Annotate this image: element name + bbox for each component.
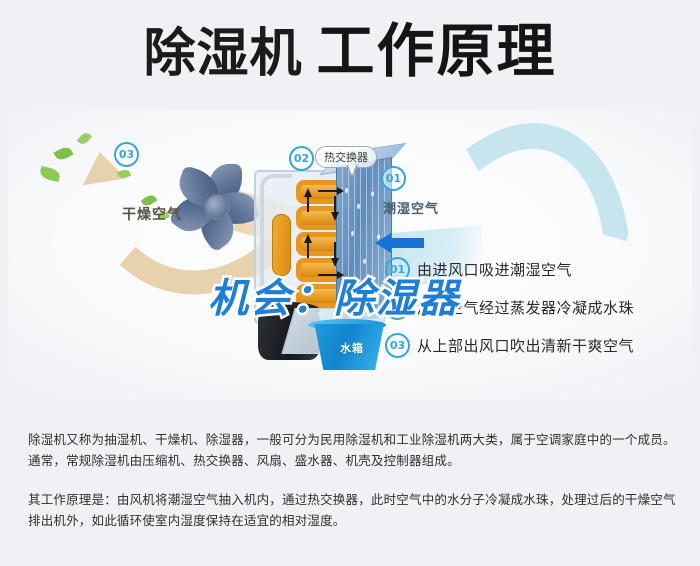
- condensation-droplet: [371, 191, 374, 197]
- working-principle-diagram: 水箱 03 02 01 热交换器 干燥空气 潮湿空气 01 由进风口吸进潮湿空气…: [0, 110, 700, 400]
- flow-arrow-up-icon: [304, 234, 312, 243]
- flow-arrow-down-icon: [331, 212, 339, 221]
- description-section: 除湿机又称为抽湿机、干燥机、除湿器，一般可分为民用除湿机和工业除湿机两大类，属于…: [28, 416, 678, 549]
- step-label: 从上部出风口吹出清新干爽空气: [417, 335, 634, 356]
- flow-arrow-stem: [334, 196, 336, 212]
- diagram-badge-03: 03: [114, 142, 139, 167]
- flow-arrow-stem: [334, 242, 336, 258]
- air-intake-arrow-icon: [390, 238, 424, 248]
- page-title: 除湿机工作原理: [0, 22, 700, 80]
- watermark-text: 机会：除湿器: [208, 266, 460, 324]
- diagram-badge-02: 02: [289, 146, 314, 171]
- page-title-main: 除湿机: [143, 24, 302, 84]
- flow-arrow-right-icon: [318, 190, 338, 192]
- callout-pointer-icon: [346, 165, 358, 178]
- description-paragraph-1: 除湿机又称为抽湿机、干燥机、除湿器，一般可分为民用除湿机和工业除湿机两大类，属于…: [28, 429, 678, 471]
- flow-arrow-up-icon: [304, 188, 312, 197]
- flow-arrow-stem: [307, 196, 309, 212]
- list-item: 03 从上部出风口吹出清新干爽空气: [385, 326, 685, 364]
- dehumidifier-unit-illustration: 水箱: [248, 156, 398, 366]
- diagram-badge-01: 01: [381, 166, 406, 191]
- flow-arrow-stem: [307, 242, 309, 258]
- water-tank-label: 水箱: [340, 340, 364, 356]
- step-badge: 03: [385, 333, 410, 358]
- dehumidifier-infographic-page: { "title": { "main": "除湿机", "sub": "工作原理…: [0, 0, 700, 566]
- page-title-sub: 工作原理: [317, 17, 557, 85]
- dry-air-label: 干燥空气: [122, 204, 182, 224]
- humid-air-label: 潮湿空气: [383, 198, 439, 217]
- fan-hub: [204, 194, 230, 220]
- description-paragraph-2: 其工作原理是：由风机将潮湿空气抽入机内，通过热交换器，此时空气中的水分子冷凝成水…: [28, 489, 678, 531]
